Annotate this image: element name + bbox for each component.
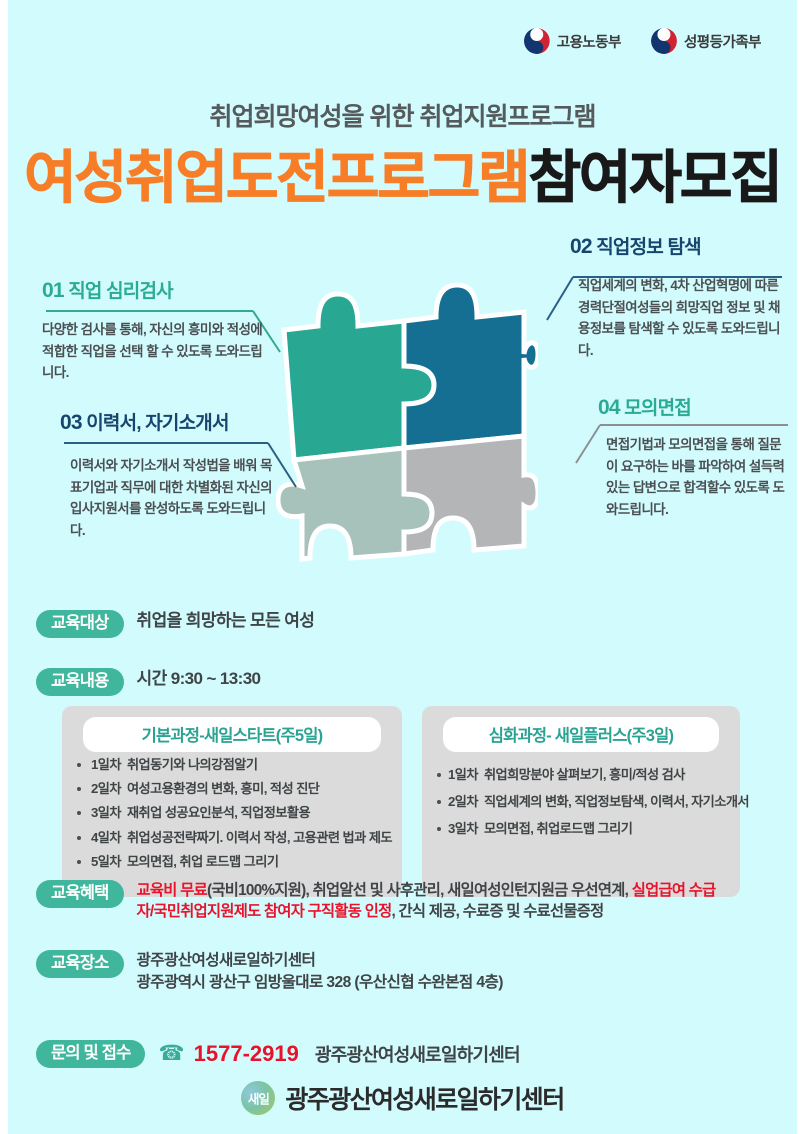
place-line-1: 광주광산여성새로일하기센터 [137, 950, 503, 972]
course-basic-list: 1일차취업동기와 나의강점알기 2일차여성고용환경의 변화, 흥미, 적성 진단… [76, 758, 388, 868]
row-benefit: 교육혜택 교육비 무료(국비100%지원), 취업알선 및 사후관리, 새일여성… [36, 880, 732, 923]
benefit-mid-2: , 간식 제공, 수료증 및 수료선물증정 [391, 903, 603, 920]
course-basic-day-3: 3일차 [91, 805, 121, 820]
label-contact: 문의 및 접수 [36, 1040, 145, 1068]
list-item: 1일차취업동기와 나의강점알기 [76, 758, 388, 771]
feature-03-body: 이력서와 자기소개서 작성법을 배워 목표기업과 직무에 대한 차별화된 자신의… [60, 455, 275, 542]
course-basic-title: 기본과정-새일스타트(주5일) [83, 717, 381, 752]
course-basic-day-1: 1일차 [91, 757, 121, 772]
feature-04-number: 04 [598, 396, 620, 419]
course-basic-text-5: 모의면접, 취업 로드맵 그리기 [127, 854, 278, 869]
course-basic-text-3: 재취업 성공요인분석, 직업정보활용 [127, 805, 310, 820]
feature-01-number: 01 [42, 279, 64, 302]
poster: 고용노동부 성평등가족부 취업희망여성을 위한 취업지원프로그램 여성취업도전프… [0, 0, 805, 1134]
course-advanced-text-1: 취업희망분야 살펴보기, 흥미/적성 검사 [484, 767, 685, 782]
telephone-icon: ☎ [158, 1043, 184, 1064]
row-target: 교육대상 취업을 희망하는 모든 여성 [36, 610, 314, 638]
feature-04: 04 모의면접 면접기법과 모의면접을 통해 질문이 요구하는 바를 파악하여 … [598, 393, 790, 521]
course-advanced: 심화과정- 새일플러스(주3일) 1일차취업희망분야 살펴보기, 흥미/적성 검… [422, 706, 740, 897]
course-advanced-title: 심화과정- 새일플러스(주3일) [443, 717, 719, 752]
place-line-2: 광주광역시 광산구 임방울대로 328 (우산신협 수완본점 4층) [137, 972, 503, 994]
course-basic-text-2: 여성고용환경의 변화, 흥미, 적성 진단 [127, 781, 319, 796]
label-benefit: 교육혜택 [36, 880, 124, 908]
course-advanced-list: 1일차취업희망분야 살펴보기, 흥미/적성 검사 2일차직업세계의 변화, 직업… [436, 768, 726, 836]
label-content: 교육내용 [36, 668, 124, 696]
feature-04-body: 면접기법과 모의면접을 통해 질문이 요구하는 바를 파악하여 설득력있는 답변… [598, 434, 790, 521]
list-item: 3일차재취업 성공요인분석, 직업정보활용 [76, 806, 388, 819]
contact-phone-number[interactable]: 1577-2919 [194, 1041, 299, 1067]
feature-02-body: 직업세계의 변화, 4차 산업혁명에 따른 경력단절여성들의 희망직업 정보 및… [570, 275, 786, 362]
course-boxes: 기본과정-새일스타트(주5일) 1일차취업동기와 나의강점알기 2일차여성고용환… [62, 706, 740, 897]
course-advanced-day-3: 3일차 [448, 821, 478, 836]
course-basic-text-4: 취업성공전략짜기. 이력서 작성, 고용관련 법과 제도 [127, 830, 392, 845]
footer: 새일 광주광산여성새로일하기센터 [0, 1080, 805, 1116]
feature-01-title: 직업 심리검사 [68, 281, 173, 302]
course-basic-day-4: 4일차 [91, 830, 121, 845]
footer-organization-name: 광주광산여성새로일하기센터 [285, 1080, 563, 1116]
feature-04-heading: 04 모의면접 [598, 393, 790, 420]
list-item: 1일차취업희망분야 살펴보기, 흥미/적성 검사 [436, 768, 726, 781]
course-advanced-day-2: 2일차 [448, 794, 478, 809]
list-item: 4일차취업성공전략짜기. 이력서 작성, 고용관련 법과 제도 [76, 831, 388, 844]
saeil-logo-icon: 새일 [241, 1081, 275, 1115]
row-place: 교육장소 광주광산여성새로일하기센터 광주광역시 광산구 임방울대로 328 (… [36, 950, 503, 994]
course-advanced-text-2: 직업세계의 변화, 직업정보탐색, 이력서, 자기소개서 [484, 794, 749, 809]
list-item: 2일차여성고용환경의 변화, 흥미, 적성 진단 [76, 782, 388, 795]
feature-03-heading: 03 이력서, 자기소개서 [60, 408, 275, 435]
feature-03-number: 03 [60, 411, 82, 434]
label-target: 교육대상 [36, 610, 124, 638]
list-item: 3일차모의면접, 취업로드맵 그리기 [436, 822, 726, 835]
feature-04-title: 모의면접 [624, 398, 691, 419]
feature-02-title: 직업정보 탐색 [596, 237, 701, 258]
course-advanced-day-1: 1일차 [448, 767, 478, 782]
value-benefit: 교육비 무료(국비100%지원), 취업알선 및 사후관리, 새일여성인턴지원금… [137, 880, 732, 923]
saeil-logo-text: 새일 [241, 1089, 275, 1108]
course-basic-day-2: 2일차 [91, 781, 121, 796]
row-content: 교육내용 시간 9:30 ~ 13:30 [36, 668, 260, 696]
feature-01-body: 다양한 검사를 통해, 자신의 흥미와 적성에 적합한 직업을 선택 할 수 있… [42, 319, 266, 384]
course-advanced-text-3: 모의면접, 취업로드맵 그리기 [484, 821, 632, 836]
feature-01: 01 직업 심리검사 다양한 검사를 통해, 자신의 흥미와 적성에 적합한 직… [42, 276, 266, 384]
list-item: 2일차직업세계의 변화, 직업정보탐색, 이력서, 자기소개서 [436, 795, 726, 808]
value-target: 취업을 희망하는 모든 여성 [137, 610, 315, 633]
feature-01-heading: 01 직업 심리검사 [42, 276, 266, 303]
list-item: 5일차모의면접, 취업 로드맵 그리기 [76, 855, 388, 868]
benefit-highlight-1: 교육비 무료 [137, 882, 207, 899]
value-content: 시간 9:30 ~ 13:30 [137, 668, 261, 691]
row-contact: 문의 및 접수 ☎ 1577-2919 광주광산여성새로일하기센터 [36, 1040, 520, 1068]
course-basic-day-5: 5일차 [91, 854, 121, 869]
feature-02: 02 직업정보 탐색 직업세계의 변화, 4차 산업혁명에 따른 경력단절여성들… [570, 232, 786, 362]
course-basic-text-1: 취업동기와 나의강점알기 [127, 757, 258, 772]
label-place: 교육장소 [36, 950, 124, 978]
contact-organization: 광주광산여성새로일하기센터 [315, 1041, 520, 1067]
feature-03: 03 이력서, 자기소개서 이력서와 자기소개서 작성법을 배워 목표기업과 직… [60, 408, 275, 542]
feature-02-number: 02 [570, 235, 592, 258]
benefit-mid-1: (국비100%지원), 취업알선 및 사후관리, 새일여성인턴지원금 우선연계, [207, 882, 628, 899]
value-place: 광주광산여성새로일하기센터 광주광역시 광산구 임방울대로 328 (우산신협 … [137, 950, 503, 994]
feature-03-title: 이력서, 자기소개서 [86, 413, 228, 434]
course-basic: 기본과정-새일스타트(주5일) 1일차취업동기와 나의강점알기 2일차여성고용환… [62, 706, 402, 897]
feature-02-heading: 02 직업정보 탐색 [570, 232, 786, 259]
